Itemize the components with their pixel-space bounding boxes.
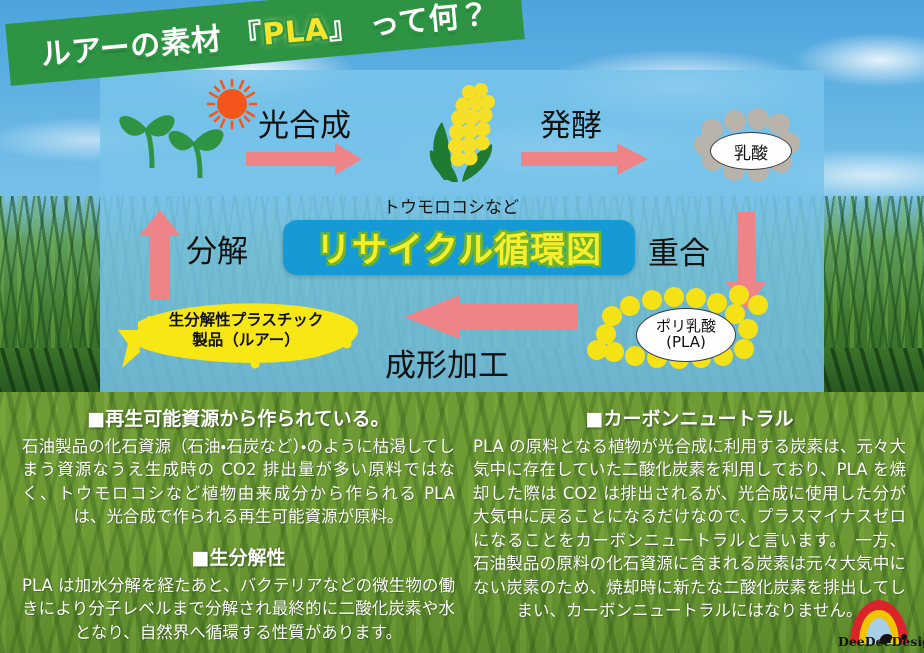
label-photosynthesis: 光合成 — [258, 100, 351, 145]
sprout-icon — [119, 115, 223, 178]
label-decomposition: 分解 — [186, 226, 248, 271]
info-panel: ■再生可能資源から作られている。 石油製品の化石資源（石油・石炭など）・のように… — [0, 392, 924, 653]
lure-label: 生分解性プラスチック 製品（ルアー） — [146, 311, 346, 351]
arrow-molding — [404, 295, 578, 339]
section-spacer — [22, 529, 455, 541]
arrow-decomposition — [139, 210, 181, 300]
label-molding: 成形加工 — [385, 340, 509, 385]
center-badge: リサイクル循環図 — [283, 220, 635, 275]
lure-node: 生分解性プラスチック 製品（ルアー） — [118, 300, 368, 372]
arrow-fermentation — [521, 143, 648, 175]
section-body-renewable: 石油製品の化石資源（石油・石炭など）・のように枯渇してしまう資源なうえ生成時の … — [22, 435, 455, 529]
label-fermentation: 発酵 — [540, 100, 602, 145]
lactic-acid-node: 乳酸 — [694, 112, 804, 188]
logo-wordmark: DeeDeeDesigns — [838, 634, 922, 649]
section-heading-biodegradable: ■生分解性 — [22, 543, 455, 570]
section-body-biodegradable: PLA は加水分解を経たあと、バクテリアなどの微生物の働きにより分子レベルまで分… — [22, 574, 455, 644]
title-suffix: 』 って何？ — [327, 0, 491, 47]
sun-icon — [208, 80, 256, 128]
label-polymerization: 重合 — [648, 228, 710, 273]
title-highlight: PLA — [261, 12, 330, 53]
corn-icon — [430, 83, 495, 182]
section-heading-carbon-neutral: ■カーボンニュートラル — [473, 404, 906, 431]
center-badge-label: リサイクル循環図 — [316, 222, 602, 273]
pla-bubble: ポリ乳酸 (PLA) — [636, 308, 736, 362]
lure-label-line1: 生分解性プラスチック — [146, 311, 346, 331]
arrow-photosynthesis — [246, 143, 362, 175]
section-body-carbon-neutral: PLA の原料となる植物が光合成に利用する炭素は、元々大気中に存在していた二酸化… — [473, 435, 906, 622]
lactic-acid-label: 乳酸 — [734, 139, 768, 164]
lure-label-line2: 製品（ルアー） — [146, 331, 346, 351]
corn-caption: トウモロコシなど — [383, 193, 519, 218]
title-prefix: ルアーの素材 『 — [39, 18, 264, 73]
info-column-left: ■再生可能資源から作られている。 石油製品の化石資源（石油・石炭など）・のように… — [0, 392, 463, 653]
section-heading-renewable: ■再生可能資源から作られている。 — [22, 404, 455, 431]
pla-label-line2: (PLA) — [666, 335, 706, 351]
infographic-root: ルアーの素材 『PLA』 って何？ 光合成 発酵 重合 成形加工 分解 トウモロ… — [0, 0, 924, 653]
pla-node: ポリ乳酸 (PLA) — [600, 288, 770, 380]
lactic-acid-bubble: 乳酸 — [710, 132, 792, 170]
